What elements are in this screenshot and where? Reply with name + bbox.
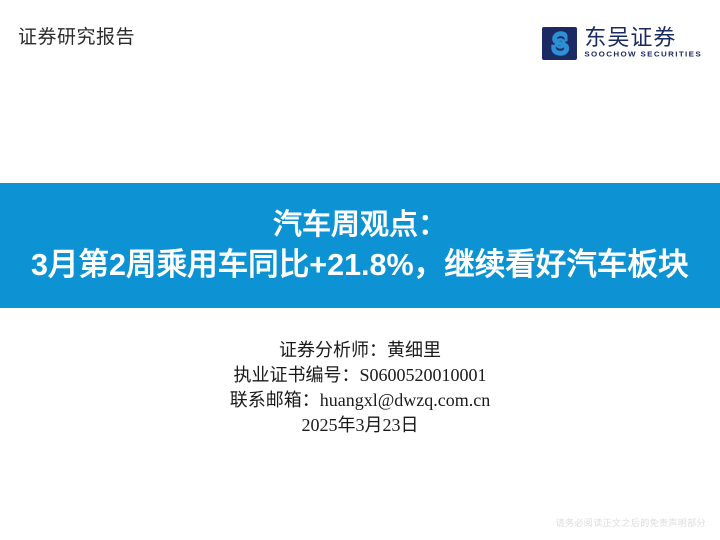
logo-name-cn: 东吴证券 bbox=[584, 25, 702, 50]
email-label: 联系邮箱： bbox=[230, 390, 320, 410]
company-logo: 东吴证券 SOOCHOW SECURITIES bbox=[542, 25, 702, 65]
soochow-swirl-icon bbox=[542, 27, 577, 60]
email-row: 联系邮箱：huangxl@dwzq.com.cn bbox=[0, 388, 720, 413]
banner-title-line-1: 汽车周观点： bbox=[273, 206, 447, 244]
analyst-name: 黄细里 bbox=[387, 340, 441, 360]
license-label: 执业证书编号： bbox=[233, 365, 359, 385]
title-banner: 汽车周观点： 3月第2周乘用车同比+21.8%，继续看好汽车板块 bbox=[0, 183, 720, 308]
license-row: 执业证书编号：S0600520010001 bbox=[0, 363, 720, 388]
email-value[interactable]: huangxl@dwzq.com.cn bbox=[320, 390, 491, 410]
report-date: 2025年3月23日 bbox=[0, 413, 720, 438]
disclaimer-footer: 请务必阅读正文之后的免责声明部分 bbox=[556, 517, 706, 529]
logo-wordmark: 东吴证券 SOOCHOW SECURITIES bbox=[584, 25, 702, 60]
logo-name-en: SOOCHOW SECURITIES bbox=[584, 50, 702, 60]
report-kind-label: 证券研究报告 bbox=[18, 26, 135, 50]
license-number: S0600520010001 bbox=[359, 365, 486, 385]
analyst-label: 证券分析师： bbox=[279, 340, 387, 360]
analyst-info-block: 证券分析师：黄细里 执业证书编号：S0600520010001 联系邮箱：hua… bbox=[0, 338, 720, 438]
banner-title-line-2: 3月第2周乘用车同比+21.8%，继续看好汽车板块 bbox=[31, 244, 688, 286]
analyst-name-row: 证券分析师：黄细里 bbox=[0, 338, 720, 363]
page-header: 证券研究报告 东吴证券 SOOCHOW SECURITIES bbox=[0, 0, 720, 90]
